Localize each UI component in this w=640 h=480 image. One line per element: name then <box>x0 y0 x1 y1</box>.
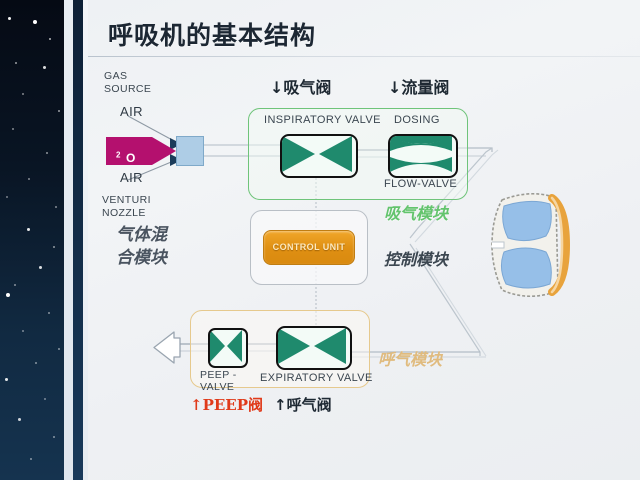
inspiratory-valve-label: INSPIRATORY VALVE <box>264 114 381 126</box>
inspiratory-valve-icon[interactable] <box>280 134 358 178</box>
air-top-label: AIR <box>120 104 143 119</box>
control-unit-label: CONTROL UNIT <box>264 231 354 264</box>
mixing-module-label: 气体混 合模块 <box>116 224 167 270</box>
divider-stripe-dark <box>73 0 83 480</box>
air-bottom-label: AIR <box>120 170 143 185</box>
flow-valve-callout: ↓流量阀 <box>388 74 449 98</box>
venturi-nozzle-label: VENTURI NOZZLE <box>102 194 151 220</box>
expiratory-module-label: 呼气模块 <box>378 346 442 370</box>
peep-valve-icon[interactable] <box>208 328 248 368</box>
ventilator-diagram: GAS SOURCE AIR AIR VENTURI NOZZLE O2 ↓吸气… <box>88 60 640 460</box>
oxygen-label: O2 <box>116 143 121 159</box>
inspiratory-valve-callout: ↓吸气阀 <box>270 74 331 98</box>
gas-source-label: GAS SOURCE <box>104 70 151 96</box>
divider-stripe-light <box>64 0 73 480</box>
expiratory-valve-icon[interactable] <box>276 326 352 370</box>
slide-screenshot: 呼吸机的基本结构 <box>0 0 640 480</box>
flow-valve-icon[interactable] <box>388 134 458 178</box>
slide-canvas: 呼吸机的基本结构 <box>88 0 640 480</box>
flow-valve-label: FLOW-VALVE <box>384 178 457 190</box>
control-module-label: 控制模块 <box>384 246 448 270</box>
oxygen-supply-arrow: O2 <box>106 135 178 167</box>
expiratory-valve-callout: ↑呼气阀 <box>274 394 332 415</box>
inspiratory-module-label: 吸气模块 <box>384 200 448 224</box>
dosing-label: DOSING <box>394 114 440 126</box>
venturi-nozzle-block <box>176 136 204 166</box>
title-divider <box>88 56 640 57</box>
peep-valve-label: PEEP - VALVE <box>200 369 237 393</box>
expiratory-valve-label: EXPIRATORY VALVE <box>260 372 373 384</box>
page-title: 呼吸机的基本结构 <box>108 16 316 52</box>
control-unit-box[interactable]: CONTROL UNIT <box>263 230 355 265</box>
peep-valve-callout: ↑PEEP阀 <box>190 394 263 415</box>
lung-illustration <box>488 190 572 300</box>
